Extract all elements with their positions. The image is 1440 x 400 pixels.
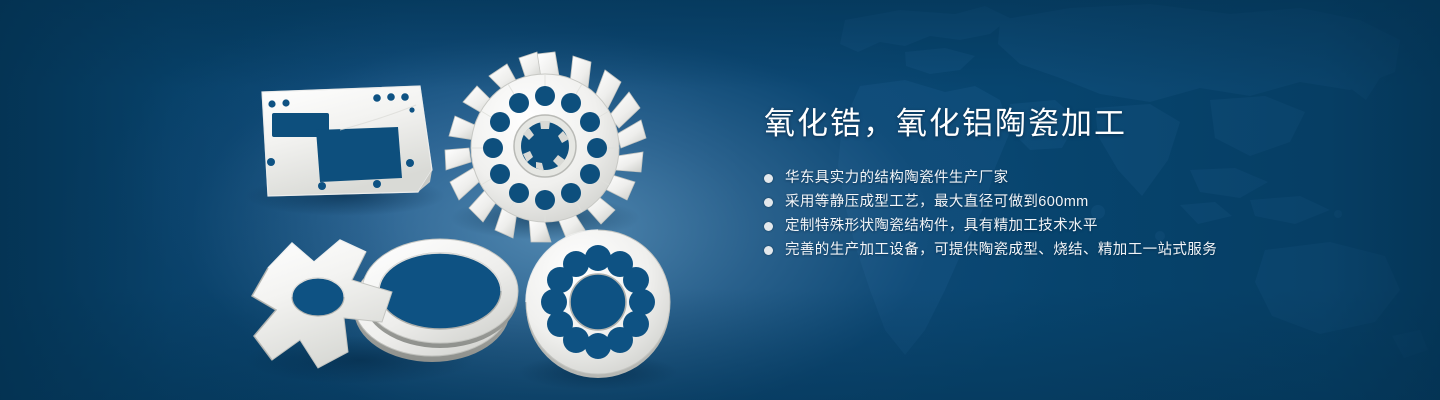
feature-text: 采用等静压成型工艺，最大直径可做到600mm <box>785 190 1089 214</box>
bullet-dot-icon <box>764 198 773 207</box>
list-item: 定制特殊形状陶瓷结构件，具有精加工技术水平 <box>764 214 1384 238</box>
list-item: 完善的生产加工设备，可提供陶瓷成型、烧结、精加工一站式服务 <box>764 238 1384 262</box>
bullet-dot-icon <box>764 222 773 231</box>
feature-list: 华东具实力的结构陶瓷件生产厂家 采用等静压成型工艺，最大直径可做到600mm 定… <box>764 166 1384 262</box>
part-ceramic-perforated-disc <box>526 230 670 378</box>
feature-text: 华东具实力的结构陶瓷件生产厂家 <box>785 166 1009 190</box>
bullet-dot-icon <box>764 246 773 255</box>
list-item: 华东具实力的结构陶瓷件生产厂家 <box>764 166 1384 190</box>
banner-copy: 氧化锆，氧化铝陶瓷加工 华东具实力的结构陶瓷件生产厂家 采用等静压成型工艺，最大… <box>764 104 1384 262</box>
banner-headline: 氧化锆，氧化铝陶瓷加工 <box>764 104 1384 144</box>
ceramic-parts-photo <box>0 0 720 400</box>
list-item: 采用等静压成型工艺，最大直径可做到600mm <box>764 190 1384 214</box>
hero-banner: 氧化锆，氧化铝陶瓷加工 华东具实力的结构陶瓷件生产厂家 采用等静压成型工艺，最大… <box>0 0 1440 400</box>
part-ceramic-plate <box>262 86 432 196</box>
feature-text: 完善的生产加工设备，可提供陶瓷成型、烧结、精加工一站式服务 <box>785 238 1217 262</box>
feature-text: 定制特殊形状陶瓷结构件，具有精加工技术水平 <box>785 214 1098 238</box>
bullet-dot-icon <box>764 174 773 183</box>
